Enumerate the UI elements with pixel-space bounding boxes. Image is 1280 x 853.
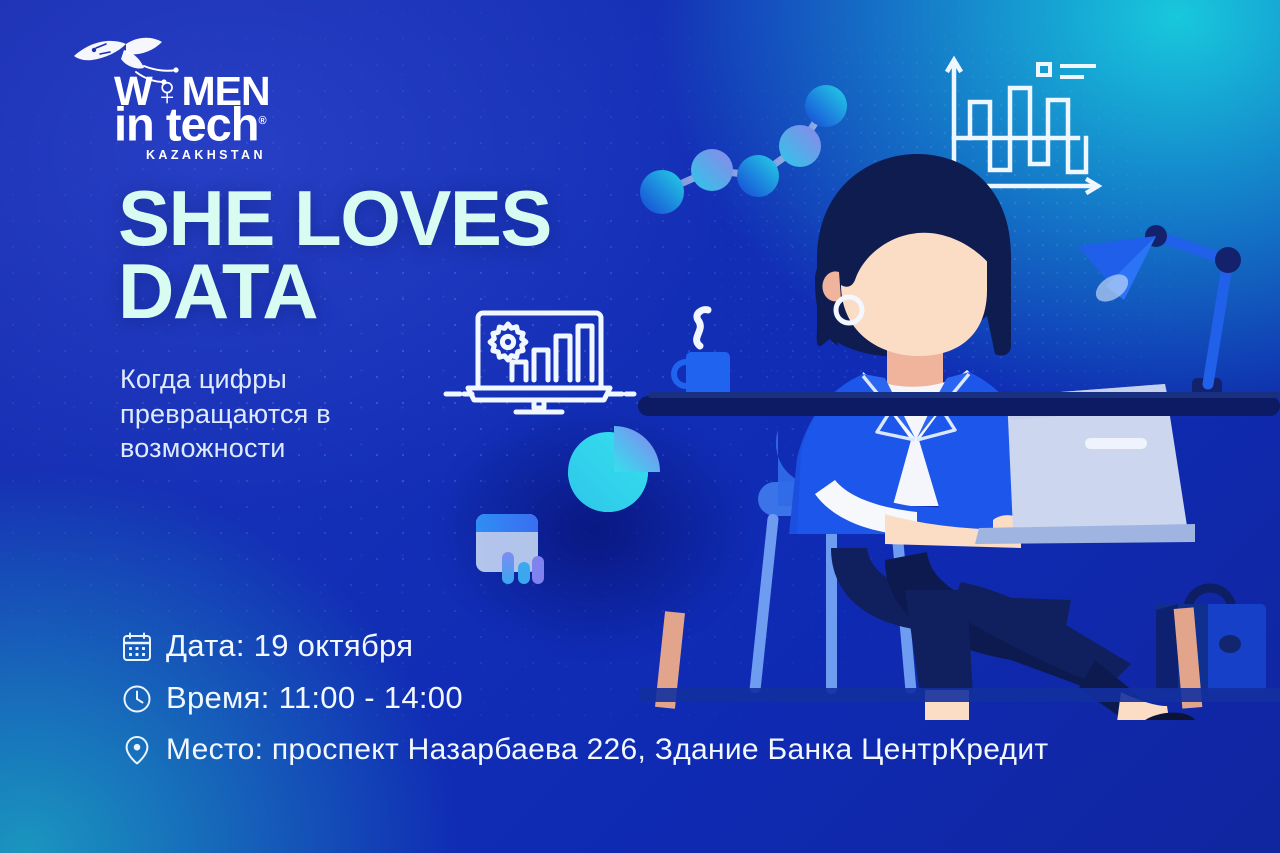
desk — [638, 396, 1280, 416]
logo-country: KAZAKHSTAN — [146, 148, 266, 162]
dashboard-tile-icon — [474, 512, 560, 590]
pie-chart-graphic — [556, 414, 666, 524]
registered-mark: ® — [258, 115, 265, 127]
logo-line-2: in tech® — [114, 104, 270, 142]
event-poster: W♀MEN in tech® KAZAKHSTAN SHE LOVES DATA… — [0, 0, 1280, 853]
laptop-analytics-outline-icon — [438, 296, 638, 416]
chart-legend — [1038, 64, 1096, 77]
woman-working-on-laptop — [735, 140, 1195, 720]
detail-text-time: Время: 11:00 - 14:00 — [166, 680, 463, 716]
calendar-icon — [122, 631, 166, 662]
logo[interactable]: W♀MEN in tech® KAZAKHSTAN — [66, 26, 296, 166]
desk-highlight — [648, 392, 1280, 398]
detail-text-location: Место: проспект Назарбаева 226, Здание Б… — [166, 733, 1048, 767]
subtitle: Когда цифры превращаются в возможности — [120, 362, 420, 466]
detail-text-date: Дата: 19 октября — [166, 628, 413, 664]
floor-line — [640, 688, 1280, 702]
clock-icon — [122, 683, 166, 714]
detail-row-location: Место: проспект Назарбаева 226, Здание Б… — [122, 724, 1048, 776]
logo-wordmark: W♀MEN in tech® — [114, 74, 270, 142]
location-pin-icon — [122, 734, 166, 766]
